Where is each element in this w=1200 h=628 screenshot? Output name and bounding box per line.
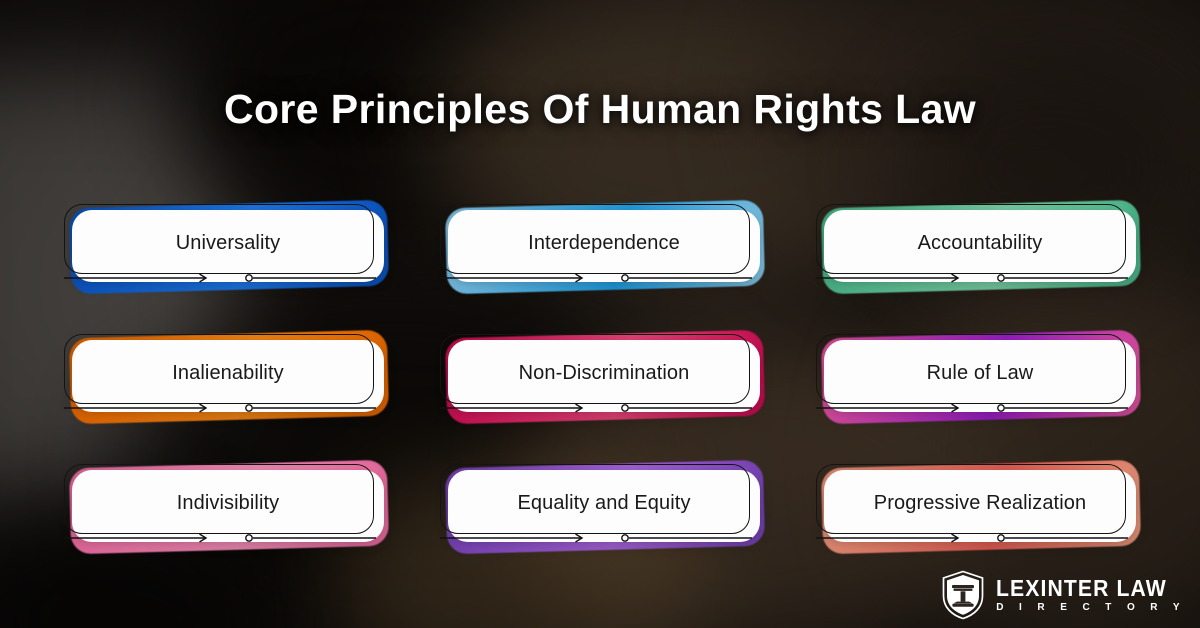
principles-grid: UniversalityInterdependenceAccountabilit…	[56, 200, 1148, 560]
card-label: Indivisibility	[177, 492, 280, 521]
principle-card[interactable]: Progressive Realization	[808, 460, 1148, 560]
card-surface: Indivisibility	[72, 470, 384, 542]
card-label: Non-Discrimination	[519, 362, 690, 391]
card-label: Interdependence	[528, 232, 680, 261]
card-label: Rule of Law	[927, 362, 1034, 391]
card-label: Inalienability	[172, 362, 283, 391]
card-label: Accountability	[918, 232, 1043, 261]
shield-column-icon	[941, 570, 985, 620]
card-surface: Accountability	[824, 210, 1136, 282]
brand-logo: LEXINTER LAW D I R E C T O R Y	[941, 570, 1186, 620]
card-label: Equality and Equity	[517, 492, 690, 521]
card-surface: Equality and Equity	[448, 470, 760, 542]
principle-card[interactable]: Indivisibility	[56, 460, 396, 560]
principle-card[interactable]: Universality	[56, 200, 396, 300]
principle-card[interactable]: Rule of Law	[808, 330, 1148, 430]
card-surface: Inalienability	[72, 340, 384, 412]
card-surface: Universality	[72, 210, 384, 282]
card-label: Universality	[176, 232, 281, 261]
card-surface: Interdependence	[448, 210, 760, 282]
principle-card[interactable]: Non-Discrimination	[432, 330, 772, 430]
principle-card[interactable]: Inalienability	[56, 330, 396, 430]
logo-name: LEXINTER LAW	[996, 577, 1171, 600]
principle-card[interactable]: Accountability	[808, 200, 1148, 300]
card-surface: Progressive Realization	[824, 470, 1136, 542]
page-title: Core Principles Of Human Rights Law	[0, 86, 1200, 133]
card-surface: Non-Discrimination	[448, 340, 760, 412]
infographic-page: Core Principles Of Human Rights Law Univ…	[0, 0, 1200, 628]
card-label: Progressive Realization	[874, 492, 1086, 521]
principle-card[interactable]: Interdependence	[432, 200, 772, 300]
principle-card[interactable]: Equality and Equity	[432, 460, 772, 560]
logo-subtitle: D I R E C T O R Y	[996, 603, 1186, 613]
card-surface: Rule of Law	[824, 340, 1136, 412]
